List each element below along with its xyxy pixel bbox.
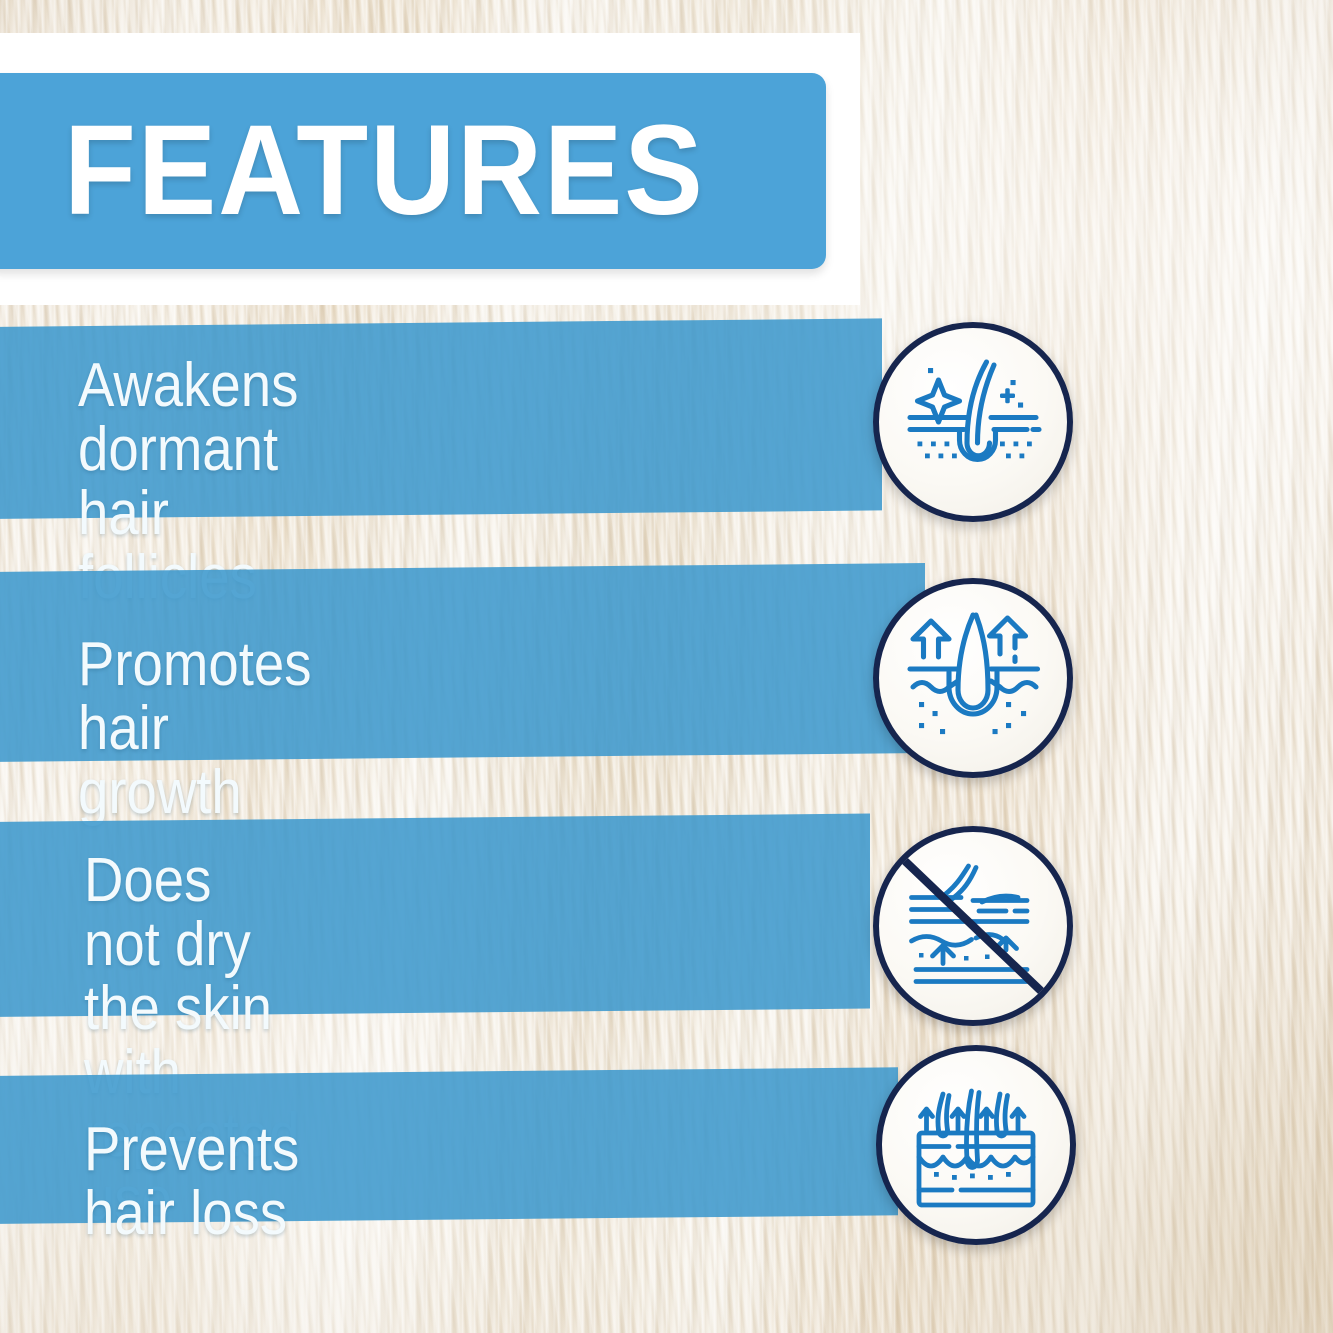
prevents-hair-loss-icon — [876, 1045, 1076, 1245]
hair-growth-arrows-icon — [873, 578, 1073, 778]
feature-label-2: Promotes hair growth — [78, 633, 311, 825]
header-blue-chip: FEATURES — [0, 73, 826, 269]
hair-follicle-sparkle-icon — [873, 322, 1073, 522]
feature-label-4: Prevents hair loss — [84, 1118, 299, 1246]
page-title: FEATURES — [64, 107, 705, 235]
no-dry-skin-icon — [873, 826, 1073, 1026]
infographic-canvas: FEATURES Awakens dormant hair follicles — [0, 0, 1333, 1333]
